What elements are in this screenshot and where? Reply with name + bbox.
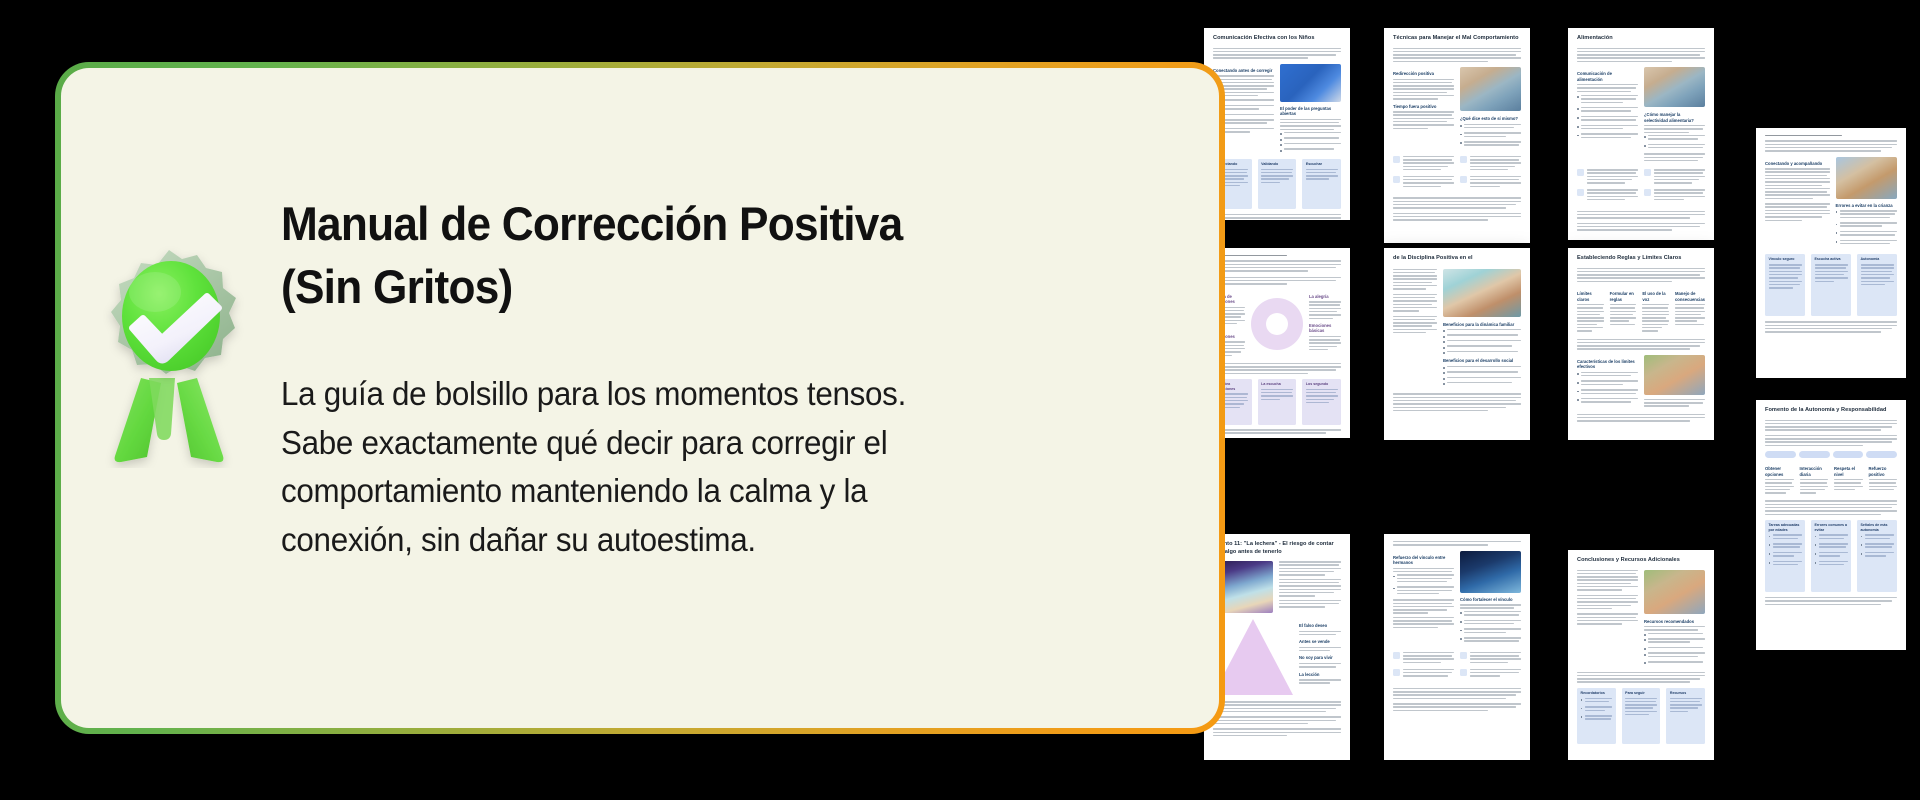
document-thumbnail[interactable]: Cuento 11: "La lechera" - El riesgo de c… xyxy=(1204,534,1350,760)
document-thumbnail[interactable]: Técnicas para Manejar el Mal Comportamie… xyxy=(1384,28,1530,243)
page-subtitle: La guía de bolsillo para los momentos te… xyxy=(281,370,946,564)
verified-check-badge-icon xyxy=(79,238,259,468)
screenshot-root: Manual de Corrección Positiva (Sin Grito… xyxy=(0,0,1920,800)
document-title: Comunicación Efectiva con los Niños xyxy=(1213,35,1341,43)
pyramid-chart xyxy=(1213,619,1293,695)
document-title: de la Disciplina Positiva en el xyxy=(1393,255,1521,263)
document-title: Estableciendo Reglas y Límites Claros xyxy=(1577,255,1705,263)
document-title: Fomento de la Autonomía y Responsabilida… xyxy=(1765,407,1897,415)
document-thumbnail[interactable]: Alimentación Comunicación de alimentació… xyxy=(1568,28,1714,240)
page-title: Manual de Corrección Positiva (Sin Grito… xyxy=(281,193,939,318)
document-thumbnail[interactable]: Comunicación Efectiva con los Niños Cone… xyxy=(1204,28,1350,220)
document-thumbnail[interactable]: de la Disciplina Positiva en el Benefici… xyxy=(1384,248,1530,440)
document-thumbnail[interactable]: Conectando y acompañando Errores a evita… xyxy=(1756,128,1906,378)
emotion-wheel-chart xyxy=(1251,298,1303,350)
document-thumbnail[interactable]: Refuerzo del vínculo entre hermanos Cómo… xyxy=(1384,534,1530,760)
document-title: Alimentación xyxy=(1577,35,1705,43)
hero-text-block: Manual de Corrección Positiva (Sin Grito… xyxy=(281,193,981,564)
hero-card: Manual de Corrección Positiva (Sin Grito… xyxy=(55,62,1225,734)
document-thumbnail[interactable]: Conclusiones y Recursos Adicionales Recu… xyxy=(1568,550,1714,760)
document-thumbnail[interactable]: Rueda de emociones Sobre emociones La al… xyxy=(1204,248,1350,438)
document-thumbnail[interactable]: Fomento de la Autonomía y Responsabilida… xyxy=(1756,400,1906,650)
document-title: Técnicas para Manejar el Mal Comportamie… xyxy=(1393,35,1521,43)
document-title: Cuento 11: "La lechera" - El riesgo de c… xyxy=(1213,541,1341,556)
document-title: Conclusiones y Recursos Adicionales xyxy=(1577,557,1705,565)
document-thumbnail[interactable]: Estableciendo Reglas y Límites Claros Lí… xyxy=(1568,248,1714,440)
hero-card-inner: Manual de Corrección Positiva (Sin Grito… xyxy=(61,68,1219,728)
